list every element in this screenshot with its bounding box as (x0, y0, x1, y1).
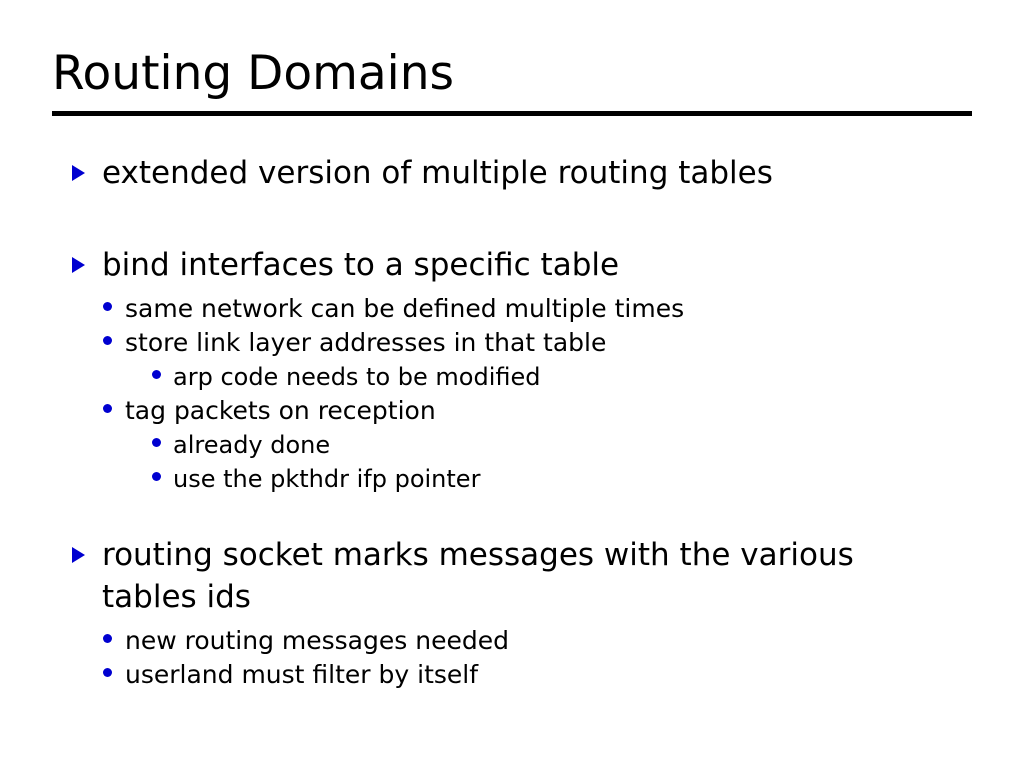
spacer (0, 496, 1024, 534)
blue-dot-bullet-icon (103, 336, 125, 345)
blue-dot-bullet-icon (103, 302, 125, 311)
blue-triangle-bullet-icon (72, 547, 102, 563)
slide-title-block: Routing Domains (52, 48, 972, 101)
blue-dot-bullet-icon (103, 634, 125, 643)
blue-dot-bullet-icon (152, 438, 173, 447)
bullet-item-level1: bind interfaces to a specific table (72, 244, 1024, 286)
bullet-text: new routing messages needed (125, 624, 1024, 658)
spacer (0, 194, 1024, 244)
bullet-item-level3: arp code needs to be modified (152, 360, 1024, 394)
bullet-text: same network can be defined multiple tim… (125, 292, 1024, 326)
page-title: Routing Domains (52, 48, 972, 101)
blue-dot-bullet-icon (152, 472, 173, 481)
bullet-text: tag packets on reception (125, 394, 1024, 428)
blue-dot-bullet-icon (152, 370, 173, 379)
bullet-text: extended version of multiple routing tab… (102, 152, 917, 194)
bullet-item-level3: already done (152, 428, 1024, 462)
blue-triangle-bullet-icon (72, 165, 102, 181)
presentation-slide: Routing Domains extended version of mult… (0, 0, 1024, 768)
bullet-item-level2: userland must filter by itself (103, 658, 1024, 692)
blue-dot-bullet-icon (103, 668, 125, 677)
bullet-item-level2: same network can be defined multiple tim… (103, 292, 1024, 326)
blue-dot-bullet-icon (103, 404, 125, 413)
bullet-item-level1: extended version of multiple routing tab… (72, 152, 1024, 194)
title-divider (52, 111, 972, 116)
bullet-text: bind interfaces to a specific table (102, 244, 917, 286)
bullet-text: userland must filter by itself (125, 658, 1024, 692)
bullet-item-level2: store link layer addresses in that table (103, 326, 1024, 360)
bullet-text: arp code needs to be modified (173, 360, 1024, 394)
blue-triangle-bullet-icon (72, 257, 102, 273)
bullet-text: routing socket marks messages with the v… (102, 534, 917, 618)
bullet-text: store link layer addresses in that table (125, 326, 1024, 360)
bullet-item-level1: routing socket marks messages with the v… (72, 534, 1024, 618)
bullet-text: already done (173, 428, 1024, 462)
bullet-item-level2: new routing messages needed (103, 624, 1024, 658)
bullet-item-level2: tag packets on reception (103, 394, 1024, 428)
bullet-item-level3: use the pkthdr ifp pointer (152, 462, 1024, 496)
bullet-text: use the pkthdr ifp pointer (173, 462, 1024, 496)
slide-body: extended version of multiple routing tab… (0, 152, 1024, 692)
